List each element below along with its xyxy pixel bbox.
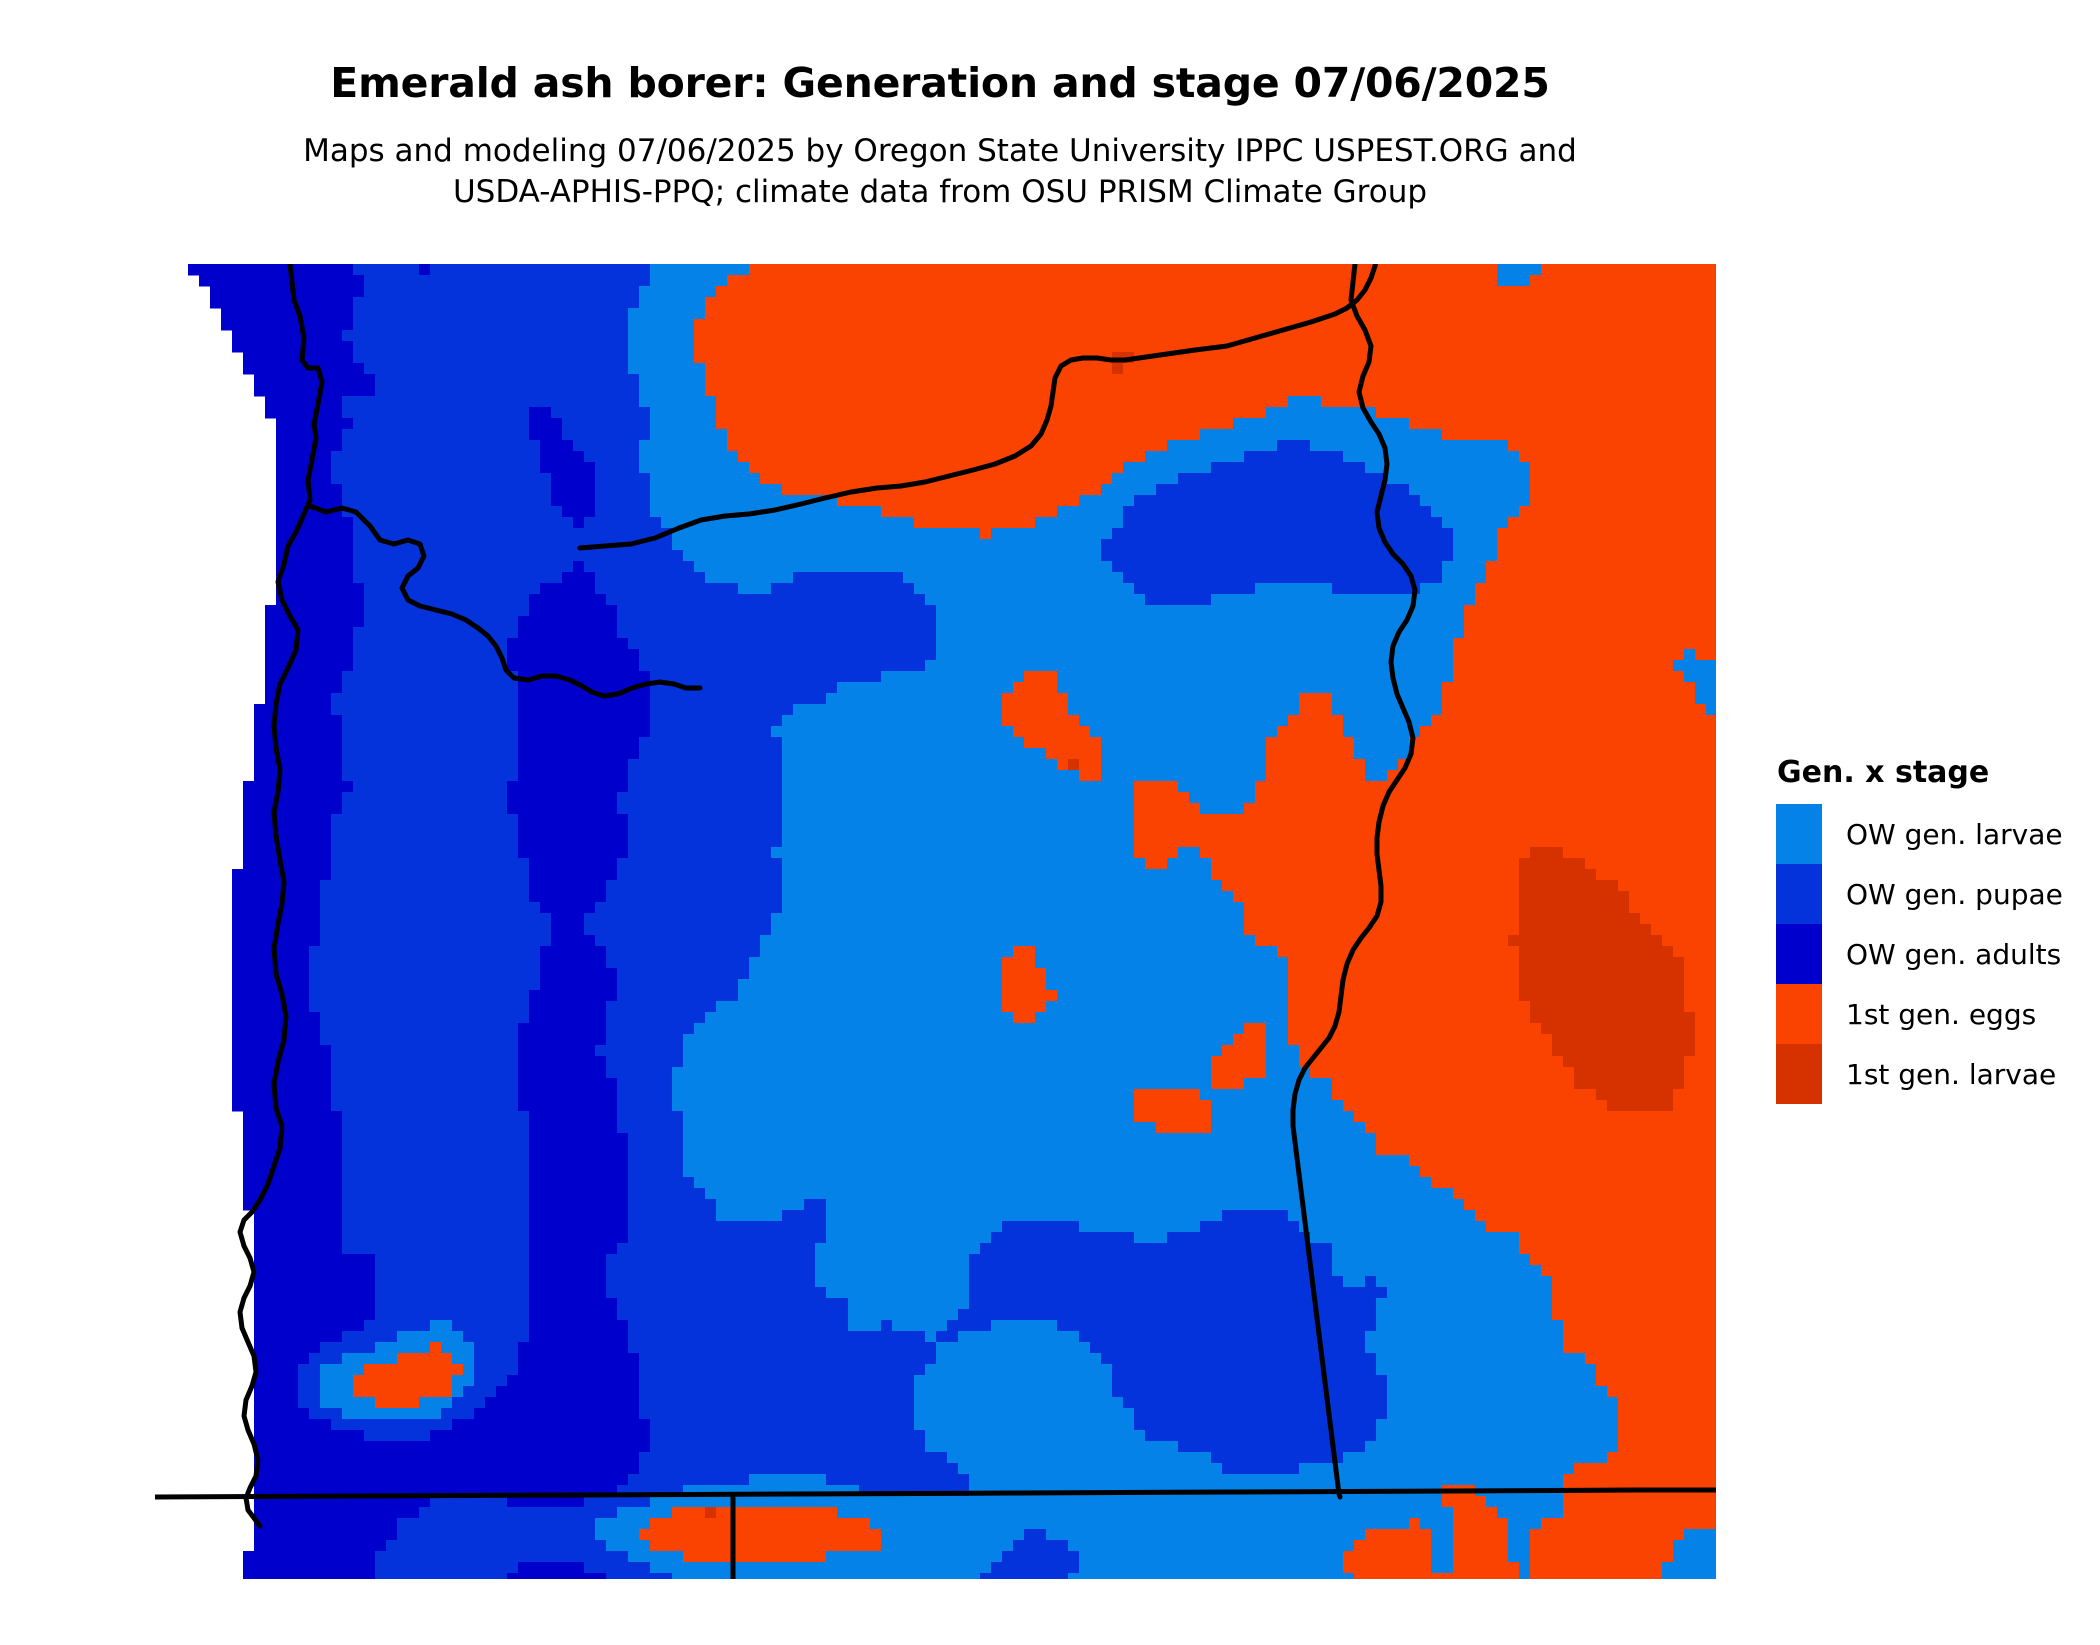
page-title: Emerald ash borer: Generation and stage …: [0, 63, 1880, 104]
legend-label: OW gen. larvae: [1846, 818, 2063, 851]
legend-color-swatch: [1776, 924, 1822, 984]
legend-title: Gen. x stage: [1777, 755, 2076, 790]
legend-items: OW gen. larvaeOW gen. pupaeOW gen. adult…: [1776, 804, 2076, 1104]
legend-color-swatch: [1776, 864, 1822, 924]
map-raster-area[interactable]: [155, 264, 1716, 1579]
legend-row: 1st gen. eggs: [1776, 984, 2076, 1044]
generation-stage-heatmap[interactable]: [155, 264, 1716, 1579]
legend-row: OW gen. larvae: [1776, 804, 2076, 864]
legend-label: 1st gen. eggs: [1846, 998, 2036, 1031]
subtitle-line-1: Maps and modeling 07/06/2025 by Oregon S…: [0, 131, 1880, 172]
legend-row: OW gen. adults: [1776, 924, 2076, 984]
legend-label: 1st gen. larvae: [1846, 1058, 2056, 1091]
title-block: Emerald ash borer: Generation and stage …: [0, 0, 1880, 213]
legend: Gen. x stage OW gen. larvaeOW gen. pupae…: [1776, 755, 2076, 1104]
legend-row: OW gen. pupae: [1776, 864, 2076, 924]
legend-color-swatch: [1776, 1044, 1822, 1104]
legend-label: OW gen. pupae: [1846, 878, 2063, 911]
legend-color-swatch: [1776, 984, 1822, 1044]
legend-row: 1st gen. larvae: [1776, 1044, 2076, 1104]
figure-page: Emerald ash borer: Generation and stage …: [0, 0, 2100, 1645]
subtitle: Maps and modeling 07/06/2025 by Oregon S…: [0, 131, 1880, 213]
legend-label: OW gen. adults: [1846, 938, 2061, 971]
subtitle-line-2: USDA-APHIS-PPQ; climate data from OSU PR…: [0, 172, 1880, 213]
legend-color-swatch: [1776, 804, 1822, 864]
